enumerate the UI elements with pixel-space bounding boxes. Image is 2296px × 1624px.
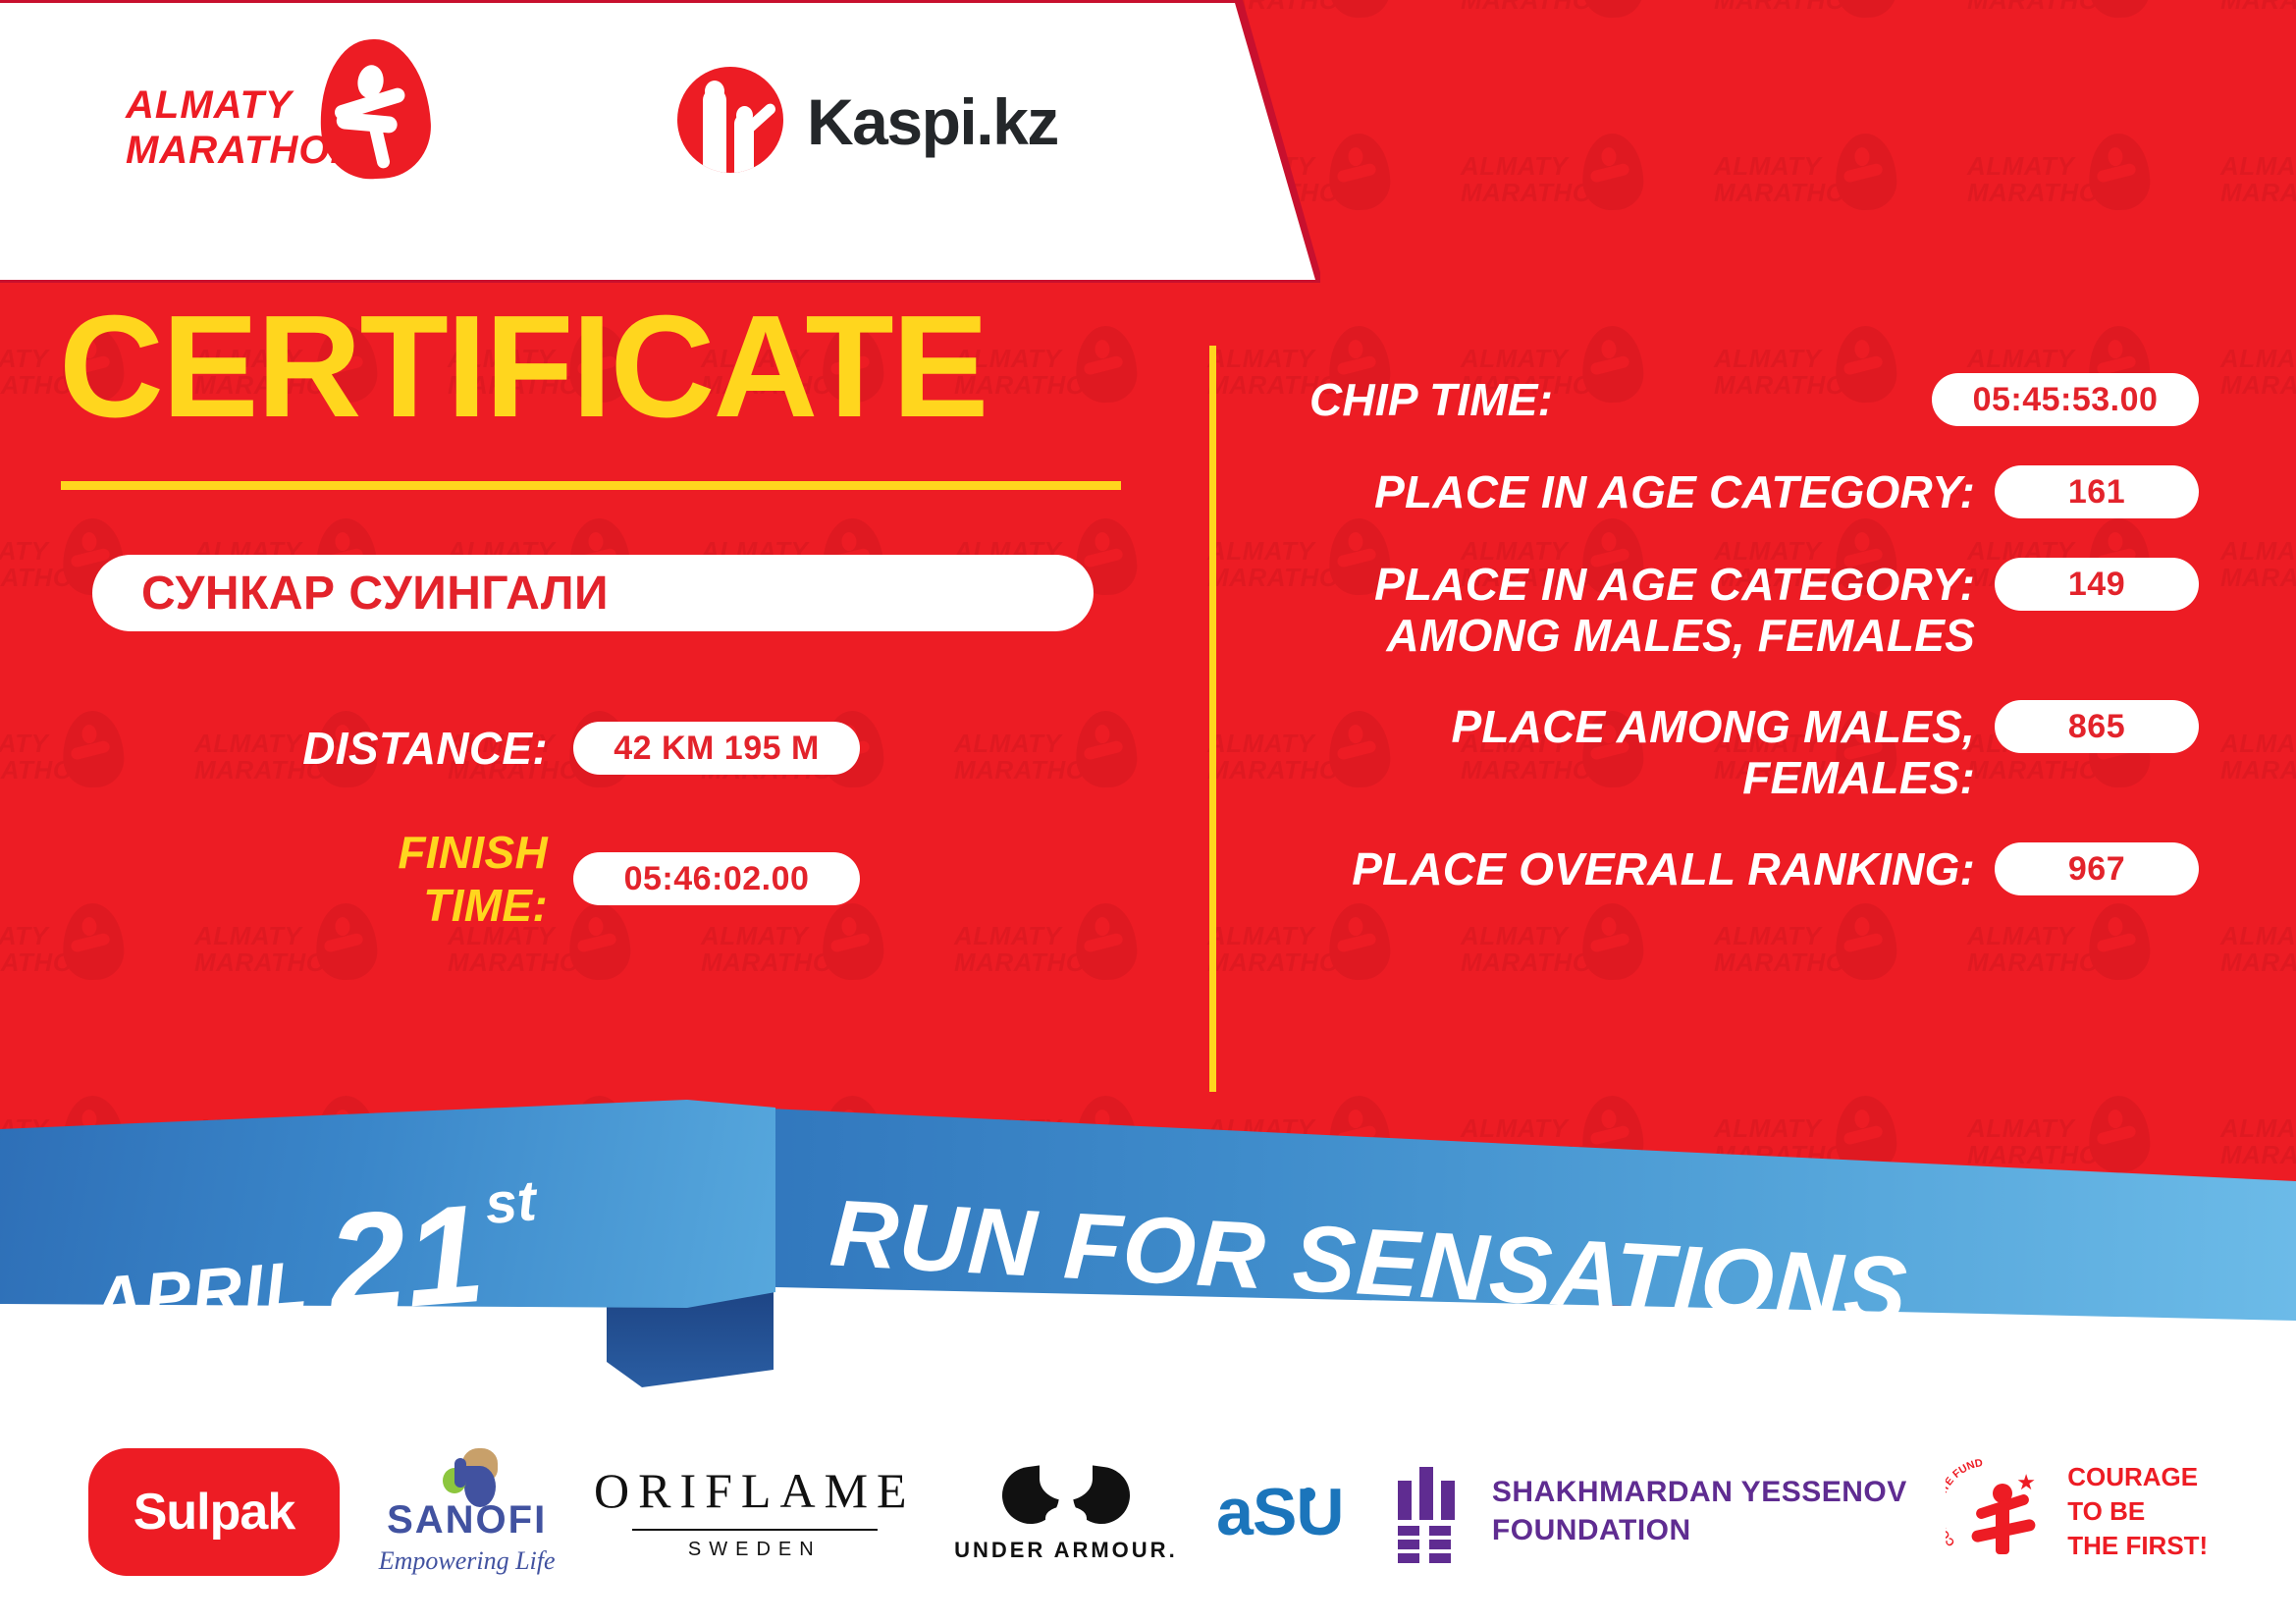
yessenov-line1: SHAKHMARDAN YESSENOV (1492, 1476, 1907, 1508)
distance-label: DISTANCE: (273, 722, 548, 775)
chip-time-label: CHIP TIME: (1276, 373, 1932, 426)
ribbon-month: APRIL (90, 1246, 312, 1341)
place-among-gender-label-line2: FEMALES: (1742, 752, 1975, 803)
place-age-category-value-pill: 161 (1995, 465, 2199, 518)
place-age-category-label: PLACE IN AGE CATEGORY: (1276, 465, 1995, 518)
place-overall-ranking-value: 967 (2068, 850, 2125, 889)
place-age-category-gender-label: PLACE IN AGE CATEGORY: AMONG MALES, FEMA… (1276, 558, 1995, 661)
results-column: CHIP TIME: 05:45:53.00 PLACE IN AGE CATE… (1276, 373, 2199, 935)
oriflame-wordmark: ORIFLAME (594, 1462, 916, 1519)
distance-value: 42 KM 195 M (614, 730, 820, 768)
sanofi-wordmark: SANOFI (387, 1498, 547, 1543)
finish-time-row: FINISH TIME: 05:46:02.00 (273, 826, 1207, 932)
participant-name-field: СУНКАР СУИНГАЛИ (92, 555, 1094, 631)
event-date-ribbon: APRIL 21 st RUN FOR SENSATIONS (0, 1075, 2296, 1389)
courage-line3: THE FIRST! (2067, 1531, 2208, 1560)
page-title: CERTIFICATE (59, 295, 1207, 440)
yessenov-mark-icon (1396, 1465, 1470, 1559)
courage-fund-mark-icon: CORPORATE FUND ★ (1946, 1458, 2054, 1566)
title-underline (61, 481, 1121, 490)
under-armour-wordmark: UNDER ARMOUR. (954, 1538, 1178, 1563)
ribbon-day: 21 (324, 1196, 488, 1322)
under-armour-mark-icon (1002, 1461, 1130, 1532)
chip-time-value-pill: 05:45:53.00 (1932, 373, 2199, 426)
place-age-category-gender-value: 149 (2068, 566, 2125, 604)
finish-time-label: FINISH TIME: (273, 826, 548, 932)
asu-wordmark: aSU (1216, 1474, 1357, 1550)
distance-value-pill: 42 KM 195 M (573, 722, 860, 775)
oriflame-rule (632, 1529, 878, 1531)
chip-time-value: 05:45:53.00 (1973, 381, 2159, 419)
chip-time-row: CHIP TIME: 05:45:53.00 (1276, 373, 2199, 426)
courage-star-icon: ★ (2016, 1472, 2036, 1493)
place-age-category-value: 161 (2068, 473, 2125, 512)
courage-line1: COURAGE (2067, 1462, 2198, 1491)
sponsor-logo-oriflame: ORIFLAME SWEDEN (594, 1448, 916, 1576)
distance-row: DISTANCE: 42 KM 195 M (273, 722, 1207, 775)
sanofi-mark-icon (433, 1448, 502, 1494)
place-among-gender-value-pill: 865 (1995, 700, 2199, 753)
place-age-category-gender-label-line2: AMONG MALES, FEMALES (1387, 610, 1975, 661)
courage-line2: TO BE (2067, 1496, 2145, 1526)
asu-dot-icon (1302, 1488, 1315, 1501)
sponsor-logo-sanofi: SANOFI Empowering Life (379, 1448, 556, 1576)
yessenov-line2: FOUNDATION (1492, 1514, 1691, 1546)
place-age-category-gender-value-pill: 149 (1995, 558, 2199, 611)
sponsor-logo-asu: aSU (1216, 1448, 1357, 1576)
yessenov-wordmark: SHAKHMARDAN YESSENOV FOUNDATION (1492, 1474, 1907, 1549)
participant-name-value: СУНКАР СУИНГАЛИ (92, 567, 609, 621)
sponsor-logo-courage-fund: CORPORATE FUND ★ COURAGE TO BE THE FIRST… (1946, 1448, 2208, 1576)
ribbon-day-suffix: st (483, 1167, 539, 1237)
column-divider (1209, 346, 1216, 1092)
sponsor-logo-sulpak: Sulpak (88, 1448, 341, 1576)
left-column: CERTIFICATE СУНКАР СУИНГАЛИ DISTANCE: 42… (0, 295, 1207, 932)
sulpak-wordmark: Sulpak (133, 1483, 295, 1542)
sanofi-tagline: Empowering Life (379, 1546, 556, 1576)
finish-time-value: 05:46:02.00 (624, 860, 810, 898)
place-among-gender-label: PLACE AMONG MALES, FEMALES: (1276, 700, 1995, 803)
finish-time-value-pill: 05:46:02.00 (573, 852, 860, 905)
place-among-gender-row: PLACE AMONG MALES, FEMALES: 865 (1276, 700, 2199, 803)
place-age-category-gender-label-line1: PLACE IN AGE CATEGORY: (1374, 559, 1975, 610)
place-overall-ranking-label: PLACE OVERALL RANKING: (1276, 842, 1995, 895)
place-among-gender-value: 865 (2068, 708, 2125, 746)
asu-wordmark-text: aSU (1216, 1475, 1343, 1549)
place-overall-ranking-value-pill: 967 (1995, 842, 2199, 895)
place-age-category-row: PLACE IN AGE CATEGORY: 161 (1276, 465, 2199, 518)
place-overall-ranking-row: PLACE OVERALL RANKING: 967 (1276, 842, 2199, 895)
oriflame-sub: SWEDEN (688, 1539, 822, 1561)
place-age-category-gender-row: PLACE IN AGE CATEGORY: AMONG MALES, FEMA… (1276, 558, 2199, 661)
sponsor-bar: Sulpak SANOFI Empowering Life ORIFLAME S… (0, 1399, 2296, 1624)
sponsor-logo-yessenov: SHAKHMARDAN YESSENOV FOUNDATION (1396, 1448, 1907, 1576)
sponsor-logo-under-armour: UNDER ARMOUR. (954, 1448, 1178, 1576)
courage-wordmark: COURAGE TO BE THE FIRST! (2067, 1460, 2208, 1562)
place-among-gender-label-line1: PLACE AMONG MALES, (1452, 701, 1975, 752)
